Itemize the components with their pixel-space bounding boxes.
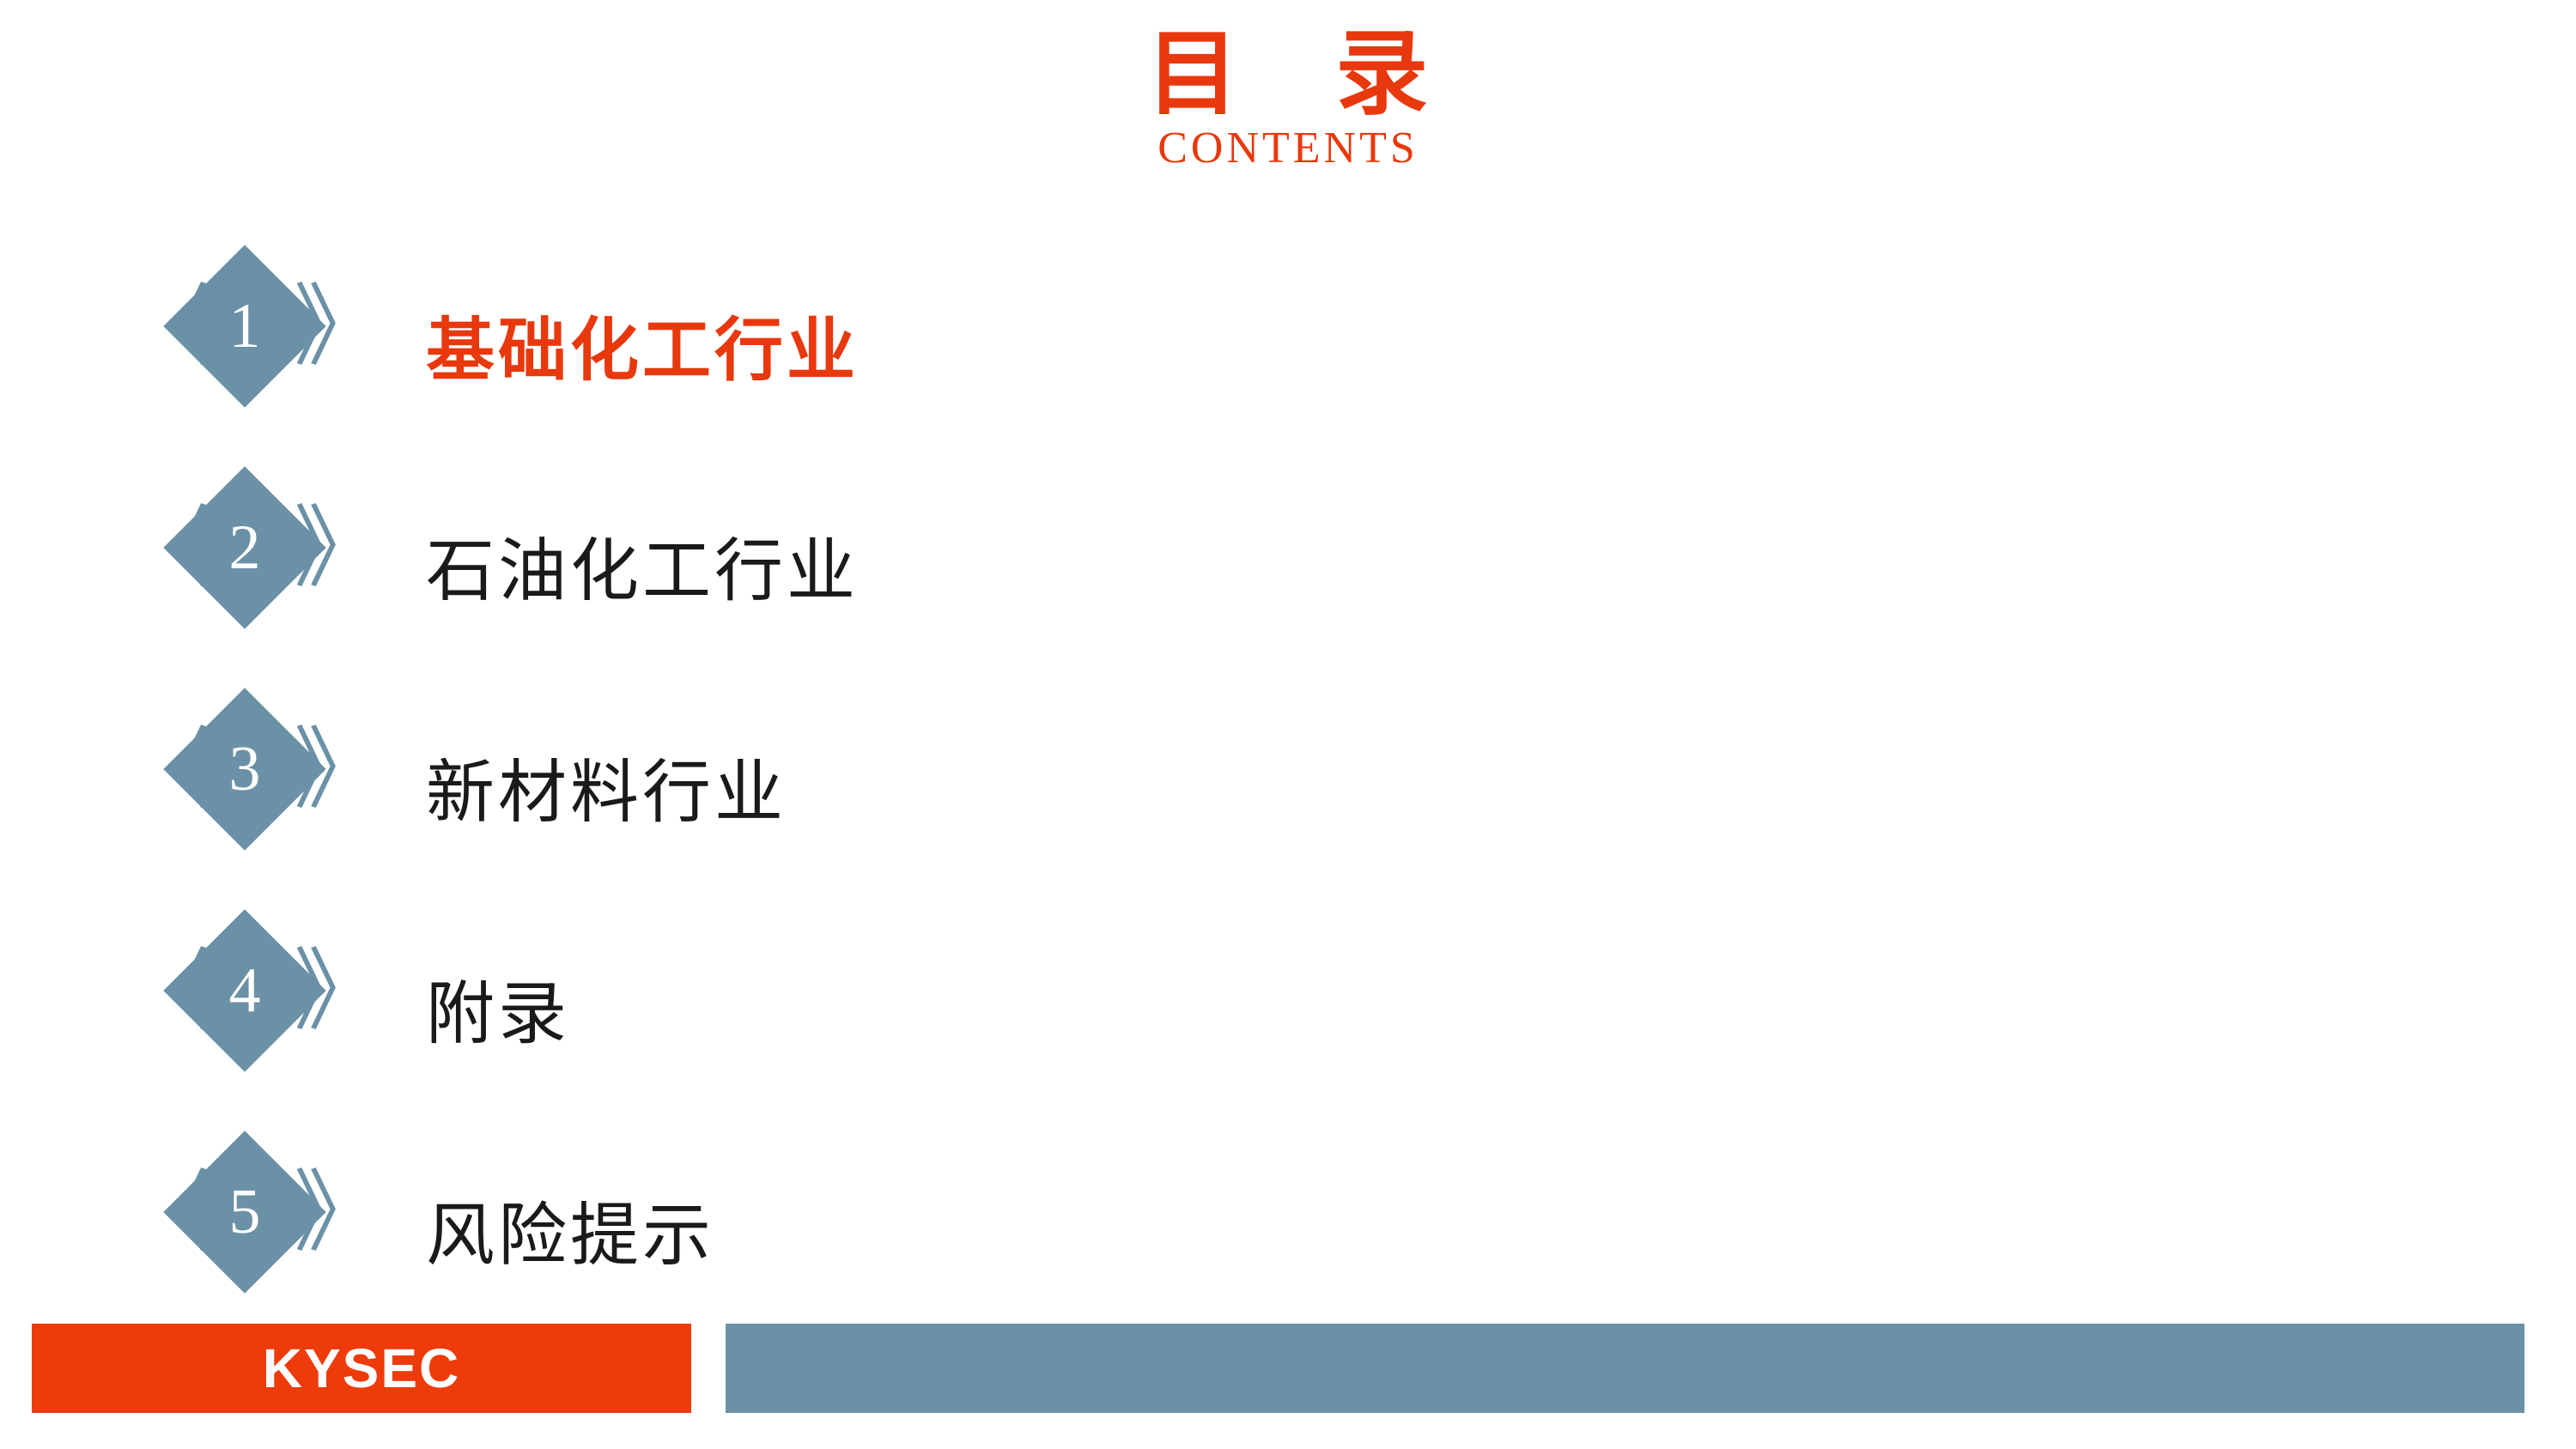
- footer-accent-bar: [726, 1324, 2524, 1413]
- toc-marker-2: 《》2: [137, 464, 352, 632]
- toc-number: 2: [187, 490, 302, 605]
- toc-item-3[interactable]: 《》3新材料行业: [0, 685, 2576, 906]
- toc-marker-4: 《》4: [137, 906, 352, 1075]
- toc-number: 3: [187, 712, 302, 827]
- toc-label[interactable]: 附录: [426, 976, 570, 1052]
- kysec-logo[interactable]: KYSEC: [32, 1324, 691, 1413]
- toc-number: 1: [187, 269, 302, 384]
- toc-marker-1: 《》1: [137, 242, 352, 410]
- toc-item-1[interactable]: 《》1基础化工行业: [0, 242, 2576, 464]
- kysec-logo-text: KYSEC: [263, 1341, 461, 1396]
- toc-label[interactable]: 风险提示: [426, 1197, 714, 1273]
- page-title: 目 录: [0, 26, 2576, 123]
- toc-number: 4: [187, 933, 302, 1048]
- presentation-slide: 目 录 CONTENTS 《》1基础化工行业《》2石油化工行业《》3新材料行业《…: [0, 0, 2576, 1449]
- toc-marker-5: 《》5: [137, 1128, 352, 1296]
- table-of-contents: 《》1基础化工行业《》2石油化工行业《》3新材料行业《》4附录《》5风险提示: [0, 242, 2576, 1349]
- slide-title-block: 目 录 CONTENTS: [0, 26, 2576, 171]
- toc-item-2[interactable]: 《》2石油化工行业: [0, 464, 2576, 685]
- toc-label[interactable]: 新材料行业: [426, 755, 787, 830]
- toc-number: 5: [187, 1155, 302, 1270]
- toc-marker-3: 《》3: [137, 685, 352, 853]
- toc-label[interactable]: 基础化工行业: [426, 312, 859, 387]
- page-subtitle: CONTENTS: [0, 126, 2576, 171]
- toc-label[interactable]: 石油化工行业: [426, 533, 859, 609]
- toc-item-5[interactable]: 《》5风险提示: [0, 1128, 2576, 1349]
- toc-item-4[interactable]: 《》4附录: [0, 906, 2576, 1128]
